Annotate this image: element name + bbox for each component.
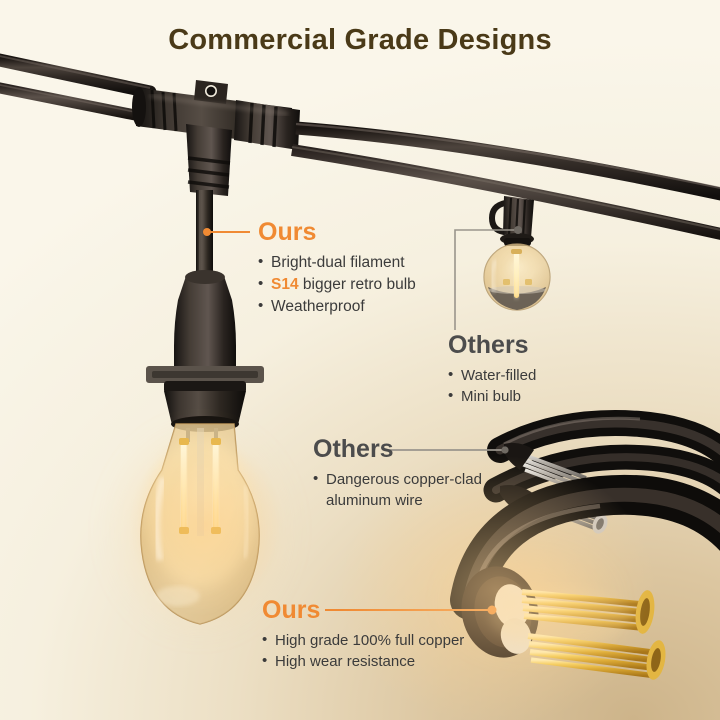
s14-socket-holder	[146, 270, 264, 432]
t-connector-hanger	[132, 80, 300, 196]
callout-bullet-list: Water-filled Mini bulb	[448, 365, 536, 408]
bullet-highlight: S14	[271, 276, 299, 293]
callout-heading: Ours	[258, 220, 416, 245]
bullet-text: High grade 100% full copper	[275, 632, 464, 649]
list-item: High wear resistance	[262, 651, 464, 672]
bullet-text: bigger retro bulb	[299, 276, 416, 293]
string-light-cable-left	[0, 54, 150, 118]
g40-mini-globe-bulb	[484, 196, 550, 310]
callout-bullet-list: Bright-dual filament S14 bigger retro bu…	[258, 252, 416, 318]
callout-heading: Others	[313, 437, 506, 462]
list-item: Weatherproof	[258, 296, 416, 318]
bullet-text: Bright-dual filament	[271, 254, 405, 271]
callout-bullet-list: Dangerous copper-clad aluminum wire	[313, 469, 506, 512]
callout-bullet-list: High grade 100% full copper High wear re…	[262, 630, 464, 673]
callout-others-bulb: Others Water-filled Mini bulb	[448, 333, 536, 408]
bullet-text: Mini bulb	[461, 388, 521, 405]
bullet-text: High wear resistance	[275, 653, 415, 670]
list-item: Dangerous copper-clad aluminum wire	[313, 469, 506, 512]
callout-ours-bulb: Ours Bright-dual filament S14 bigger ret…	[258, 220, 416, 318]
callout-others-wire: Others Dangerous copper-clad aluminum wi…	[313, 437, 506, 512]
bullet-text: Weatherproof	[271, 298, 365, 315]
list-item: Mini bulb	[448, 386, 536, 407]
infographic-canvas: Commercial Grade Designs Ours Bright-dua…	[0, 0, 720, 720]
bullet-text: Water-filled	[461, 367, 536, 384]
page-title: Commercial Grade Designs	[0, 24, 720, 57]
list-item: Bright-dual filament	[258, 252, 416, 274]
callout-heading: Others	[448, 333, 536, 358]
callout-heading: Ours	[262, 598, 464, 623]
list-item: S14 bigger retro bulb	[258, 274, 416, 296]
list-item: Water-filled	[448, 365, 536, 386]
callout-ours-wire: Ours High grade 100% full copper High we…	[262, 598, 464, 673]
bullet-text: Dangerous copper-clad aluminum wire	[326, 471, 482, 509]
list-item: High grade 100% full copper	[262, 630, 464, 651]
